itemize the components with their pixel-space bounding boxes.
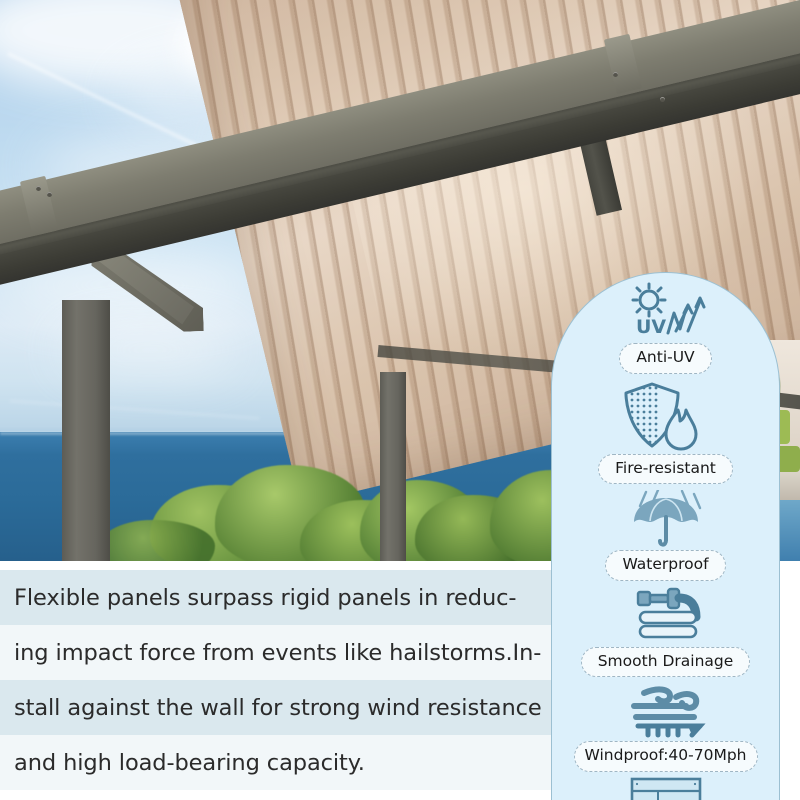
description-line-text: ing impact force from events like hailst… xyxy=(14,640,541,666)
description-line: stall against the wall for strong wind r… xyxy=(0,680,551,735)
feature-windproof: Windproof:40-70Mph xyxy=(552,677,779,772)
description-block: Flexible panels surpass rigid panels in … xyxy=(0,570,551,800)
description-line: ing impact force from events like hailst… xyxy=(0,625,551,680)
screw xyxy=(47,192,52,197)
product-banner: Flexible panels surpass rigid panels in … xyxy=(0,0,800,800)
feature-label-windproof: Windproof:40-70Mph xyxy=(574,741,758,772)
feature-waterproof: Waterproof xyxy=(552,484,779,581)
feature-label-fire-resistant: Fire-resistant xyxy=(598,454,733,485)
shield-flame-icon xyxy=(620,380,712,452)
feature-label-waterproof: Waterproof xyxy=(605,550,725,581)
steel-frame-grid-icon xyxy=(624,776,708,800)
screw xyxy=(660,97,665,102)
description-line-text: and high load-bearing capacity. xyxy=(14,750,365,776)
photo-text-separator xyxy=(0,561,551,570)
sun-uv-rays-icon: UV xyxy=(618,281,714,341)
feature-heavy-duty-frame: Feavy-duty Frame xyxy=(552,772,779,800)
screw xyxy=(36,186,41,191)
umbrella-rain-icon xyxy=(616,490,716,548)
support-post-left xyxy=(62,300,110,561)
feature-fire-resistant: Fire-resistant xyxy=(552,374,779,485)
wind-gust-icon xyxy=(614,683,718,739)
contrail xyxy=(10,400,260,419)
coiled-hose-icon xyxy=(616,587,716,645)
feature-panel: UV Anti-UV xyxy=(551,272,780,800)
description-line: and high load-bearing capacity. xyxy=(0,735,551,790)
description-line: Flexible panels surpass rigid panels in … xyxy=(0,570,551,625)
description-line-text: stall against the wall for strong wind r… xyxy=(14,695,542,721)
feature-label-smooth-drainage: Smooth Drainage xyxy=(581,647,751,678)
feature-label-anti-uv: Anti-UV xyxy=(619,343,711,374)
svg-text:UV: UV xyxy=(636,316,666,338)
feature-smooth-drainage: Smooth Drainage xyxy=(552,581,779,678)
support-post-mid xyxy=(380,372,406,561)
description-line-text: Flexible panels surpass rigid panels in … xyxy=(14,585,516,611)
screw xyxy=(613,72,618,77)
